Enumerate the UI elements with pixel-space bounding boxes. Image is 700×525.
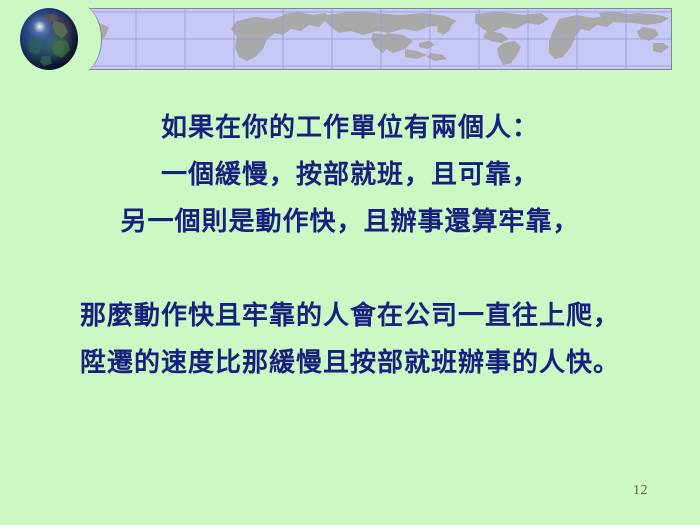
body-line-3: 另一個則是動作快，且辦事還算牢靠， [0,198,700,245]
body-line-4: 那麼動作快且牢靠的人會在公司一直往上爬， [0,292,700,339]
globe-landmass-overlay [20,8,78,70]
body-line-5: 陞遷的速度比那緩慢且按部就班辦事的人快。 [0,339,700,386]
body-line-2: 一個緩慢，按部就班，且可靠， [0,151,700,198]
world-map-icon [87,9,671,69]
globe-icon [20,8,78,70]
slide-body-text: 如果在你的工作單位有兩個人： 一個緩慢，按部就班，且可靠， 另一個則是動作快，且… [0,104,700,386]
body-line-blank [0,245,700,292]
slide-header-banner [0,0,700,82]
body-line-1: 如果在你的工作單位有兩個人： [0,104,700,151]
page-number: 12 [633,483,648,499]
world-map-strip [86,8,672,70]
presentation-slide: 如果在你的工作單位有兩個人： 一個緩慢，按部就班，且可靠， 另一個則是動作快，且… [0,0,700,525]
